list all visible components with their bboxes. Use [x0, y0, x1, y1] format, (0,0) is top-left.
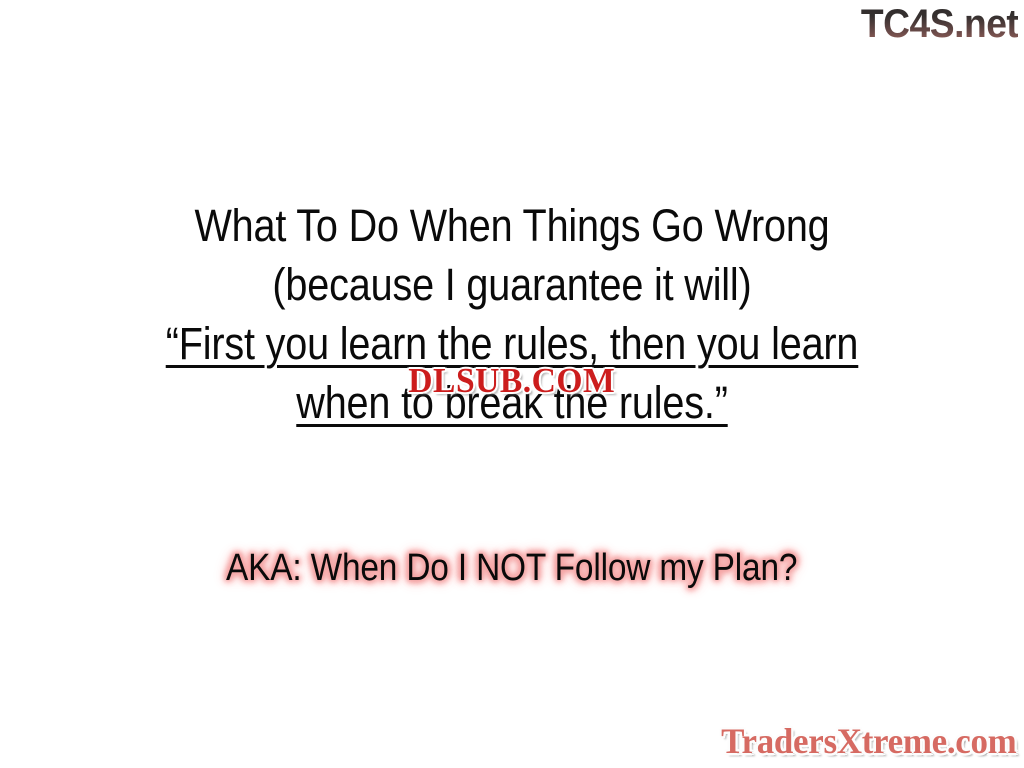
title-line-1: What To Do When Things Go Wrong [61, 196, 962, 255]
title-line-4: when to break the rules.” [61, 373, 962, 432]
subtitle-block: AKA: When Do I NOT Follow my Plan? [0, 544, 1024, 592]
tradersxtreme-logo: TradersXtreme.com [721, 720, 1016, 762]
presentation-slide: TC4S.net What To Do When Things Go Wrong… [0, 0, 1024, 768]
tc4s-logo: TC4S.net [860, 2, 1018, 46]
title-line-3: “First you learn the rules, then you lea… [61, 314, 962, 373]
aka-subtitle: AKA: When Do I NOT Follow my Plan? [226, 544, 797, 592]
title-block: What To Do When Things Go Wrong (because… [0, 196, 1024, 432]
title-line-2: (because I guarantee it will) [61, 255, 962, 314]
